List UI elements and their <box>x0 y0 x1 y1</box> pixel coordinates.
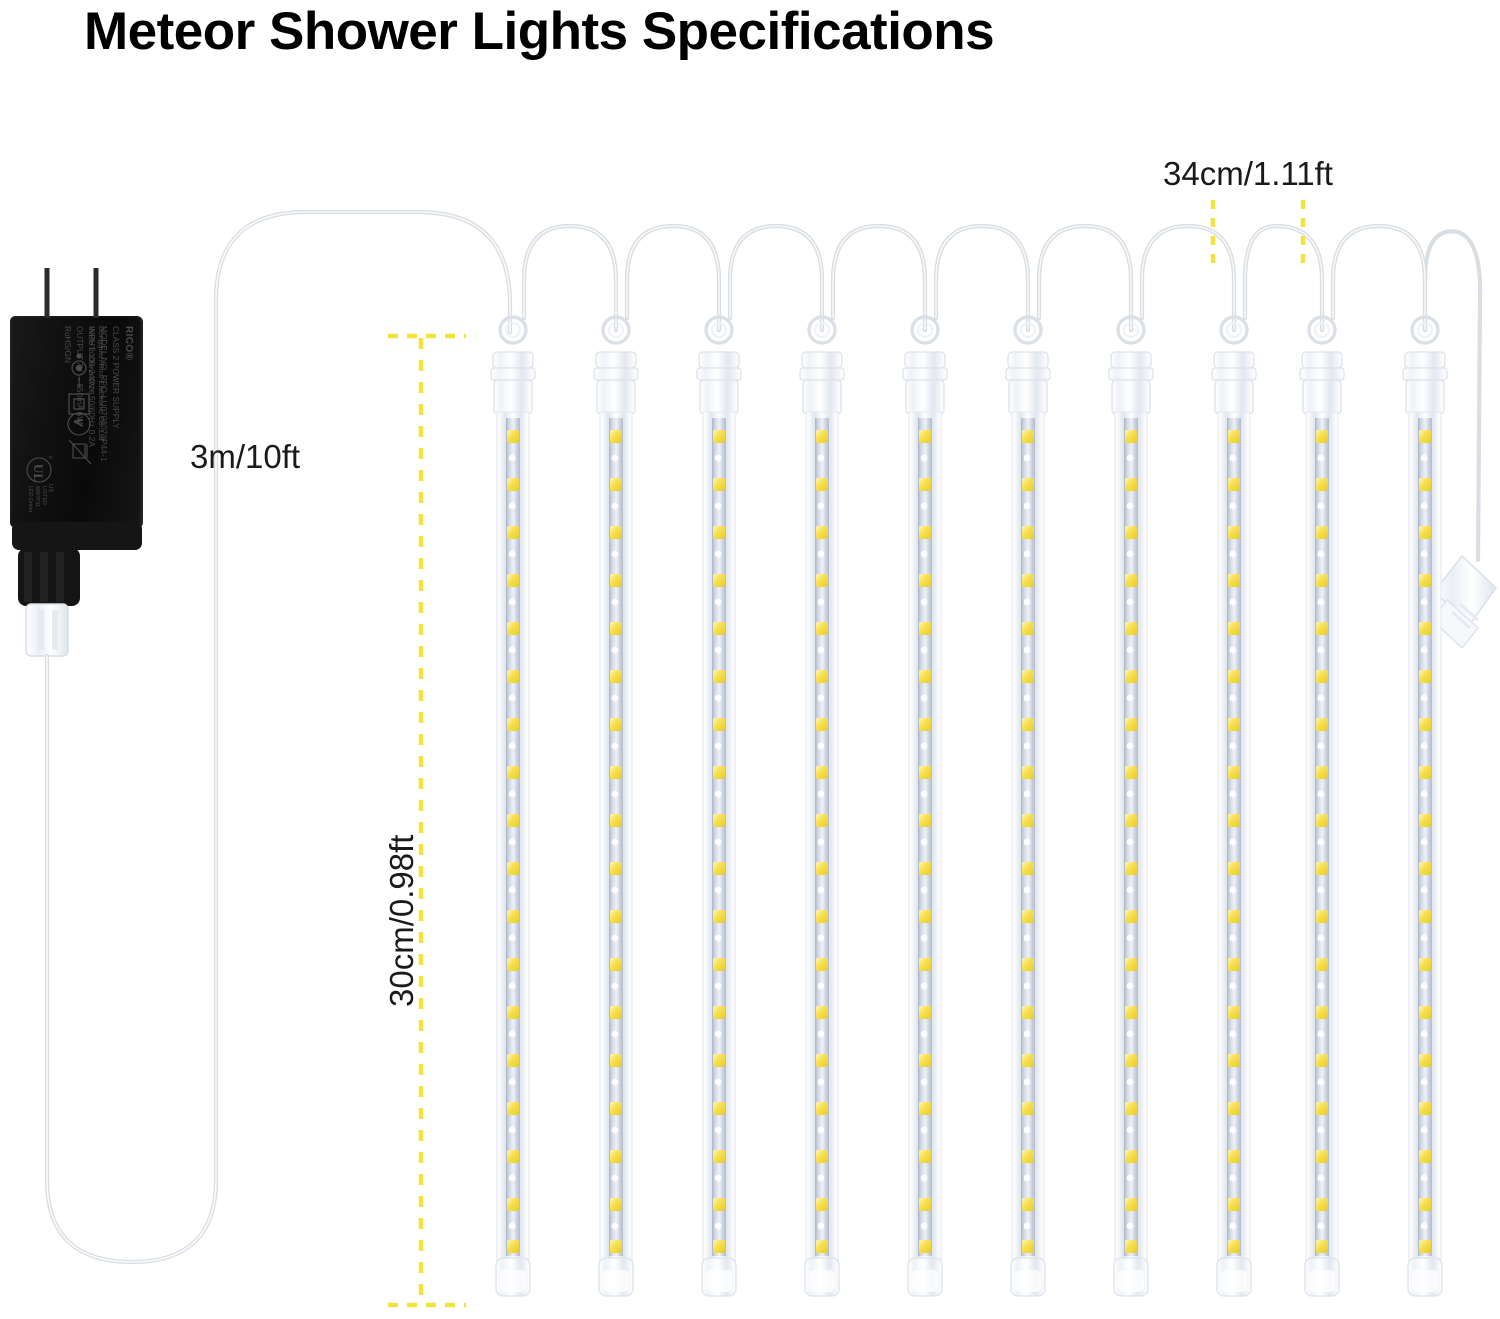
led-meteor-tube <box>1109 317 1153 1296</box>
led-meteor-tube <box>903 317 947 1296</box>
power-cord-highlight <box>47 212 510 1262</box>
ac-prongs-icon <box>47 268 96 318</box>
hanging-eyelet-icon <box>500 317 526 343</box>
led-tube-group <box>491 317 535 1296</box>
power-cord-length-label: 3m/10ft <box>190 438 300 476</box>
tube-length-label: 30cm/0.98ft <box>383 835 421 1007</box>
led-meteor-tube <box>1300 317 1344 1296</box>
led-meteor-tube <box>491 317 535 1296</box>
led-meteor-tube <box>1006 317 1050 1296</box>
led-meteor-tube <box>1403 317 1447 1296</box>
tube-length-dimension <box>388 336 466 1305</box>
tail-end-connector <box>1432 556 1496 648</box>
led-meteor-tube <box>800 317 844 1296</box>
led-tube-clones <box>594 317 1447 1296</box>
led-meteor-tube <box>697 317 741 1296</box>
power-cord <box>47 212 510 1262</box>
specification-diagram: Meteor Shower Lights Specifications RICO… <box>0 0 1500 1319</box>
led-meteor-tube <box>594 317 638 1296</box>
product-illustration <box>0 0 1500 1319</box>
tube-spacing-dimension <box>1213 200 1303 272</box>
tube-spacing-label: 34cm/1.11ft <box>1163 155 1333 193</box>
adapter-output-connector <box>12 522 142 656</box>
led-meteor-tube <box>1212 317 1256 1296</box>
tube-connecting-wires-highlight <box>524 226 1425 330</box>
